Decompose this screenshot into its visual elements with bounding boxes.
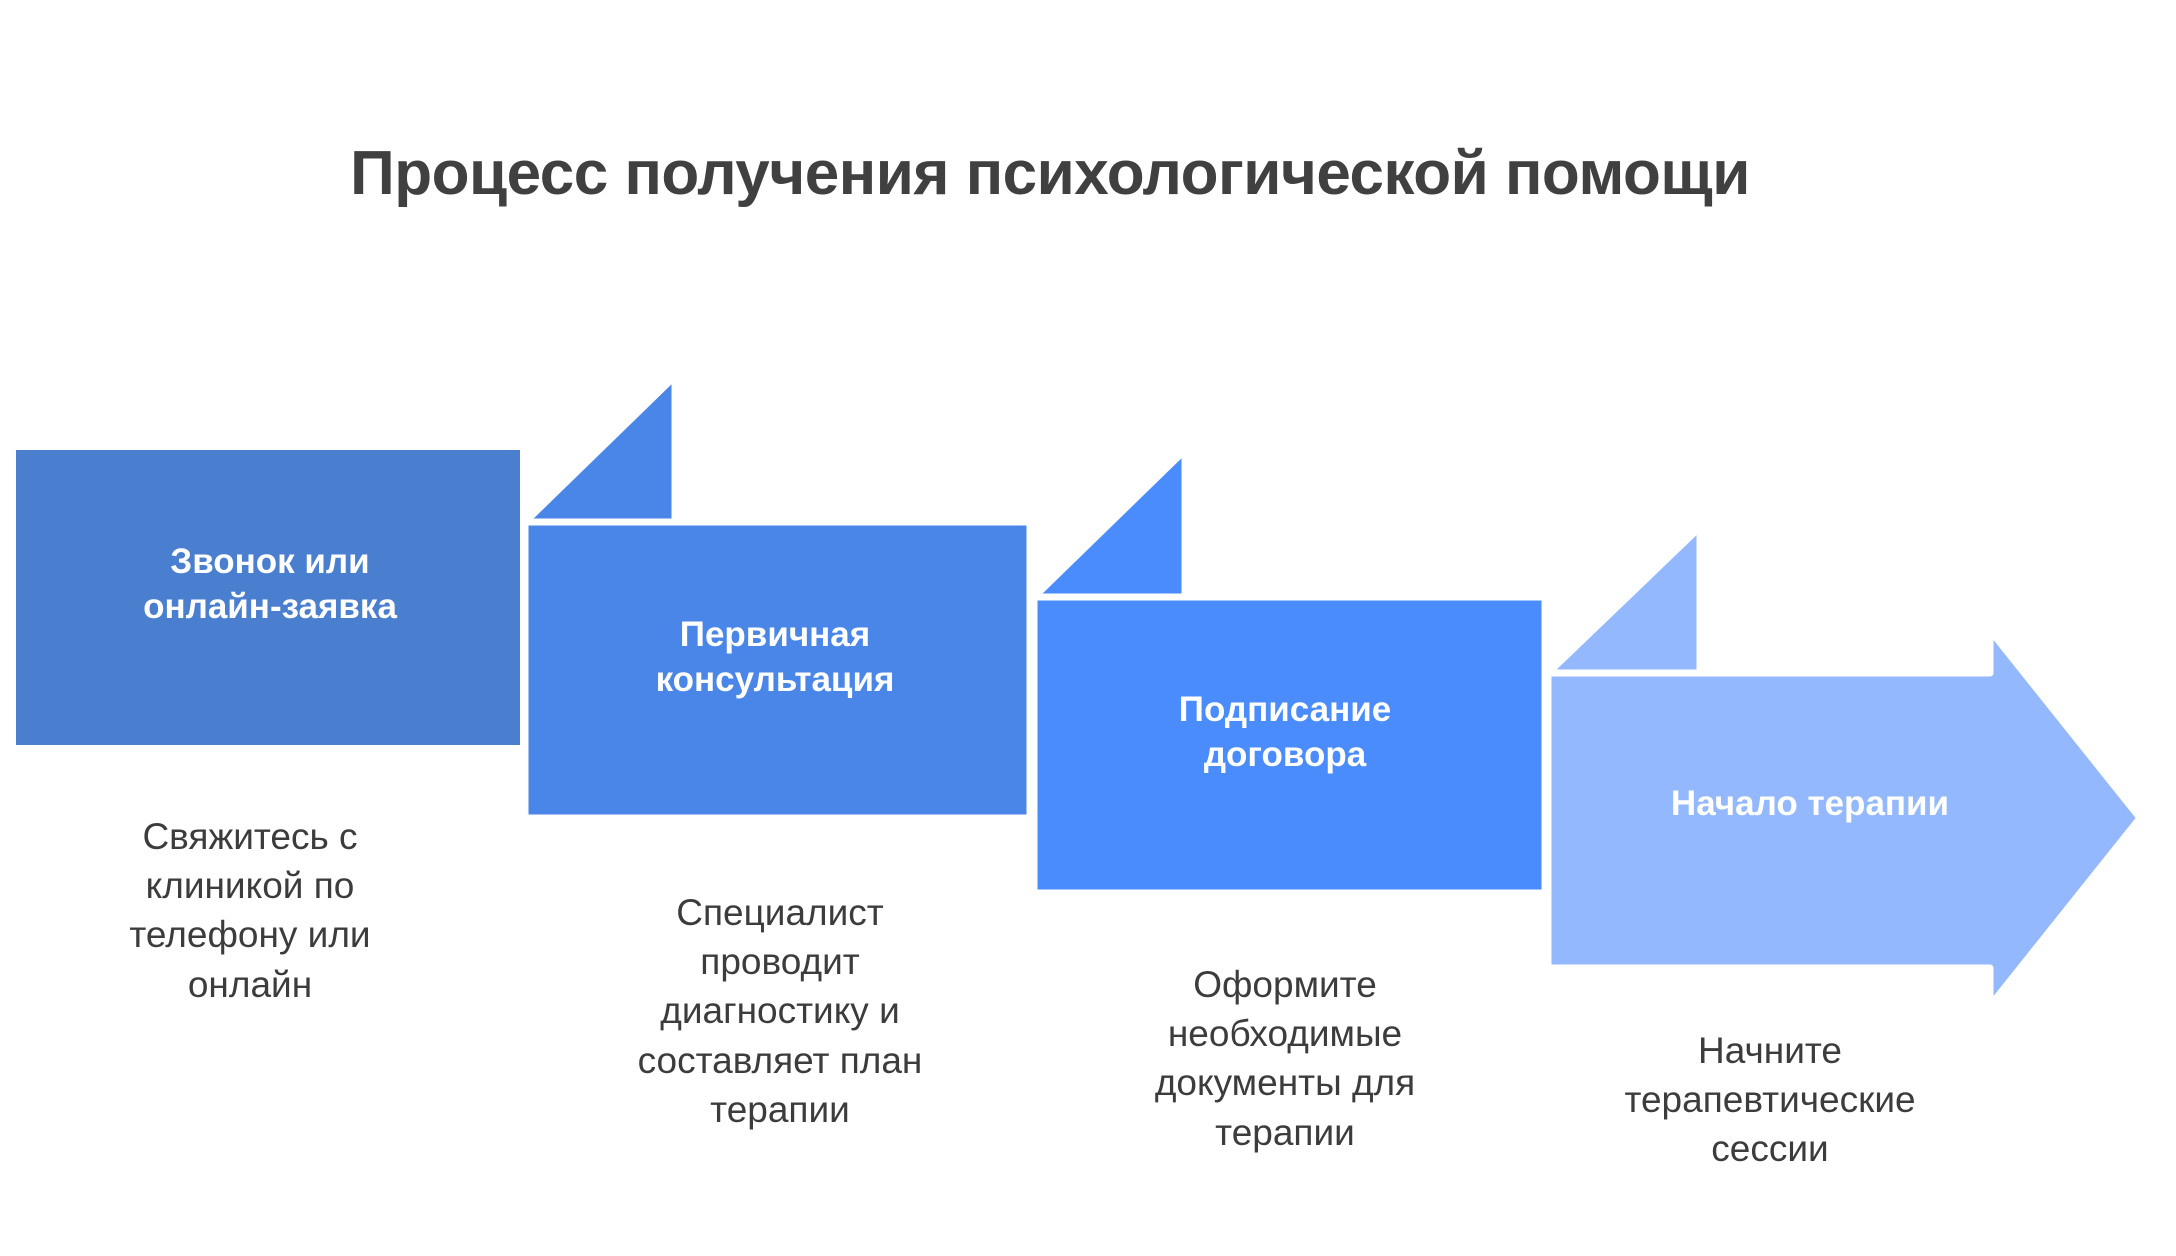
step-1-body — [16, 450, 520, 745]
step-shape-4[interactable] — [1548, 527, 2140, 1006]
process-diagram: Звонок или онлайн-заявка Первичная консу… — [0, 0, 2176, 1256]
step-2-body — [525, 522, 1030, 818]
step-4-caption: Начните терапевтические сессии — [1555, 1026, 1985, 1174]
step-1-caption: Свяжитесь с клиникой по телефону или онл… — [40, 812, 460, 1009]
step-3-fold-tab — [1034, 450, 1185, 597]
step-4-arrow-body — [1548, 630, 2140, 1006]
step-shape-3[interactable] — [1034, 450, 1545, 893]
step-shape-1[interactable] — [16, 450, 520, 745]
step-3-caption: Оформите необходимые документы для терап… — [1075, 960, 1495, 1157]
step-3-body — [1034, 597, 1545, 893]
step-4-fold-tab — [1548, 527, 1700, 673]
step-2-fold-tab — [525, 376, 675, 522]
step-2-caption: Специалист проводит диагностику и состав… — [570, 888, 990, 1134]
slide-canvas: Процесс получения психологической помощи — [0, 0, 2176, 1256]
step-shape-2[interactable] — [525, 376, 1030, 818]
